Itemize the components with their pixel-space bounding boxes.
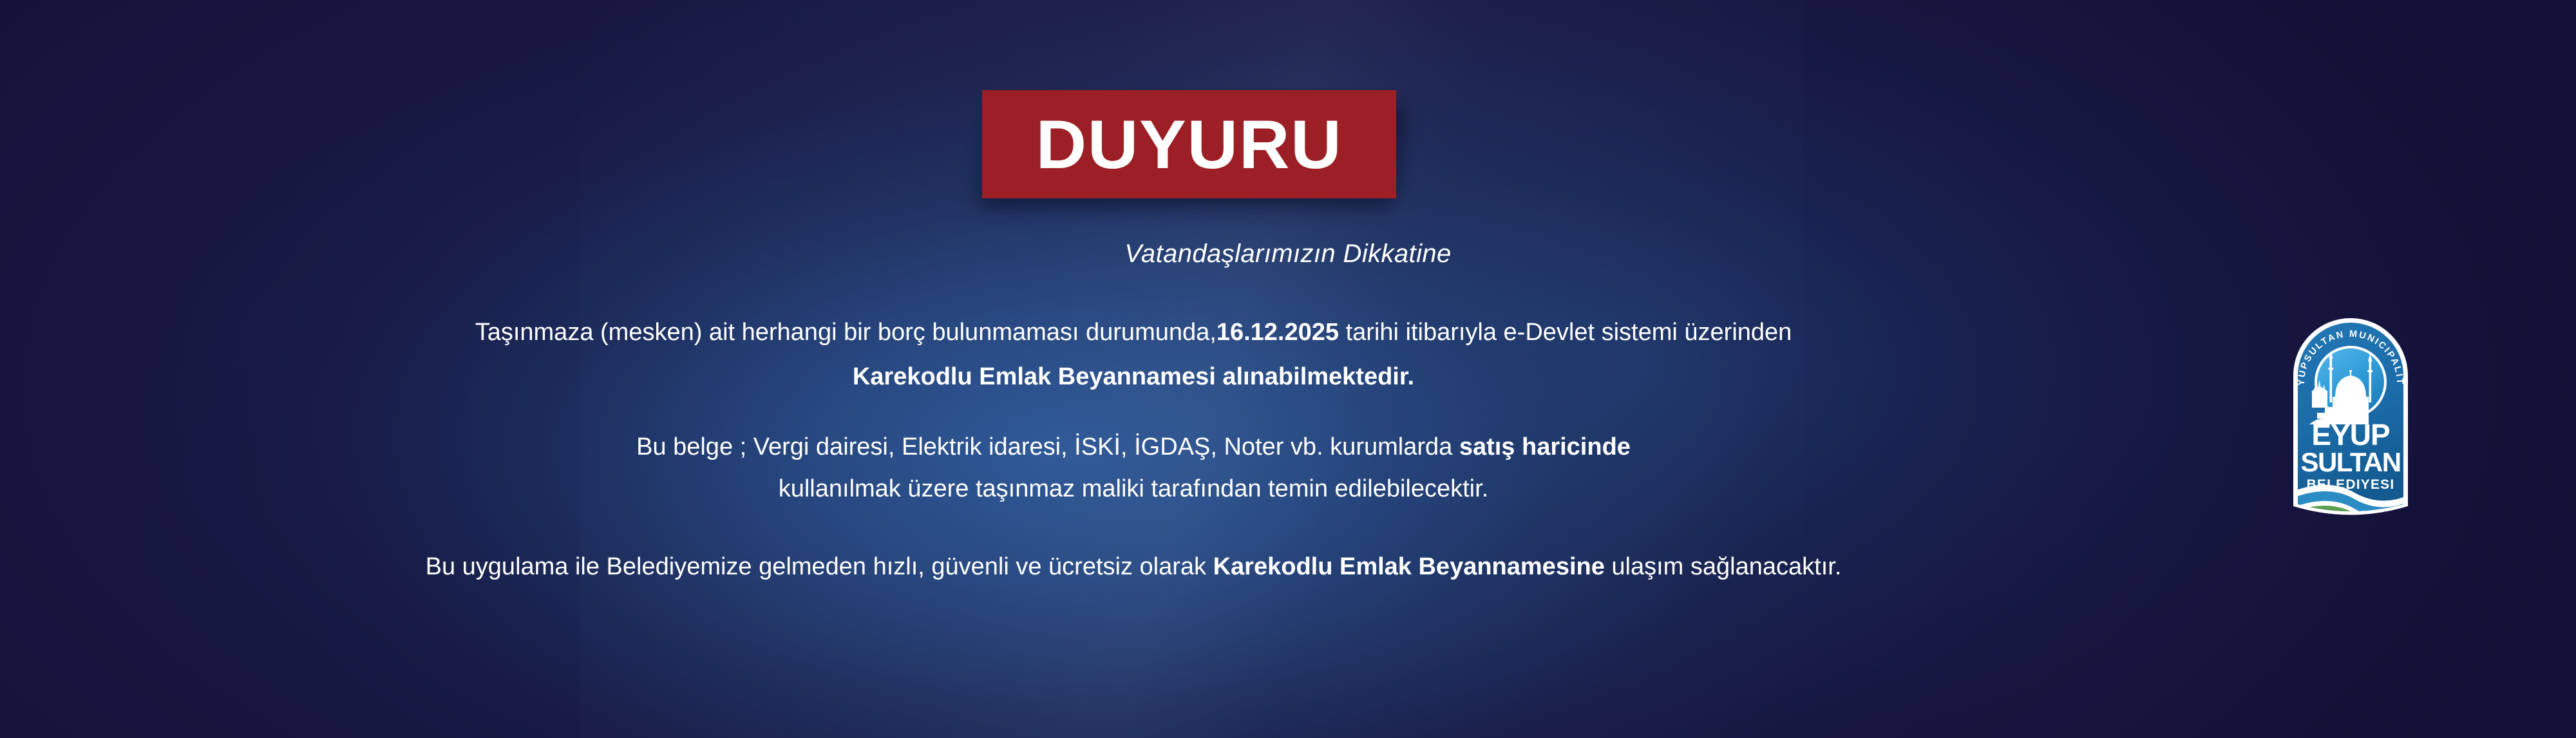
paragraph-2-line-2-seg-1: kullanılmak üzere taşınmaz maliki tarafı… <box>779 475 1489 502</box>
paragraph-3-line-1-seg-2: Karekodlu Emlak Beyannamesine <box>1213 553 1605 580</box>
subtitle: Vatandaşlarımızın Dikkatine <box>0 240 2576 269</box>
paragraph-1-line-1: Taşınmaza (mesken) ait herhangi bir borç… <box>0 309 2267 355</box>
paragraph-1: Taşınmaza (mesken) ait herhangi bir borç… <box>0 309 2267 398</box>
paragraph-2-line-1: Bu belge ; Vergi dairesi, Elektrik idare… <box>0 425 2267 469</box>
duyuru-banner: DUYURU <box>982 90 1396 198</box>
logo-title-line-2: SULTAN <box>2300 447 2400 477</box>
eyup-sultan-belediyesi-logo: EYUPSULTAN MUNICIPALITY <box>2287 311 2414 524</box>
paragraph-3-line-1-seg-1: Bu uygulama ile Belediyemize gelmeden hı… <box>426 553 1213 580</box>
paragraph-1-line-1-seg-3: tarihi itibarıyla e-Devlet sistemi üzeri… <box>1339 319 1792 346</box>
paragraph-3: Bu uygulama ile Belediyemize gelmeden hı… <box>0 545 2267 589</box>
paragraph-2-line-1-seg-1: Bu belge ; Vergi dairesi, Elektrik idare… <box>636 433 1459 460</box>
paragraph-2-line-2: kullanılmak üzere taşınmaz maliki tarafı… <box>0 469 2267 509</box>
announcement-banner: DUYURU Vatandaşlarımızın Dikkatine Taşın… <box>0 0 2576 738</box>
paragraph-1-line-1-seg-2: 16.12.2025 <box>1217 319 1339 346</box>
paragraph-3-line-1: Bu uygulama ile Belediyemize gelmeden hı… <box>0 545 2267 589</box>
paragraph-1-line-1-seg-1: Taşınmaza (mesken) ait herhangi bir borç… <box>475 319 1217 346</box>
announcement-body: Taşınmaza (mesken) ait herhangi bir borç… <box>0 309 2267 589</box>
paragraph-1-line-2-seg-1: Karekodlu Emlak Beyannamesi alınabilmekt… <box>853 363 1414 390</box>
paragraph-2: Bu belge ; Vergi dairesi, Elektrik idare… <box>0 425 2267 509</box>
duyuru-banner-box: DUYURU <box>982 90 1396 198</box>
duyuru-title: DUYURU <box>1036 110 1342 179</box>
paragraph-3-line-1-seg-3: ulaşım sağlanacaktır. <box>1605 553 1842 580</box>
paragraph-1-line-2: Karekodlu Emlak Beyannamesi alınabilmekt… <box>0 355 2267 398</box>
paragraph-2-line-1-seg-2: satış haricinde <box>1459 433 1631 460</box>
